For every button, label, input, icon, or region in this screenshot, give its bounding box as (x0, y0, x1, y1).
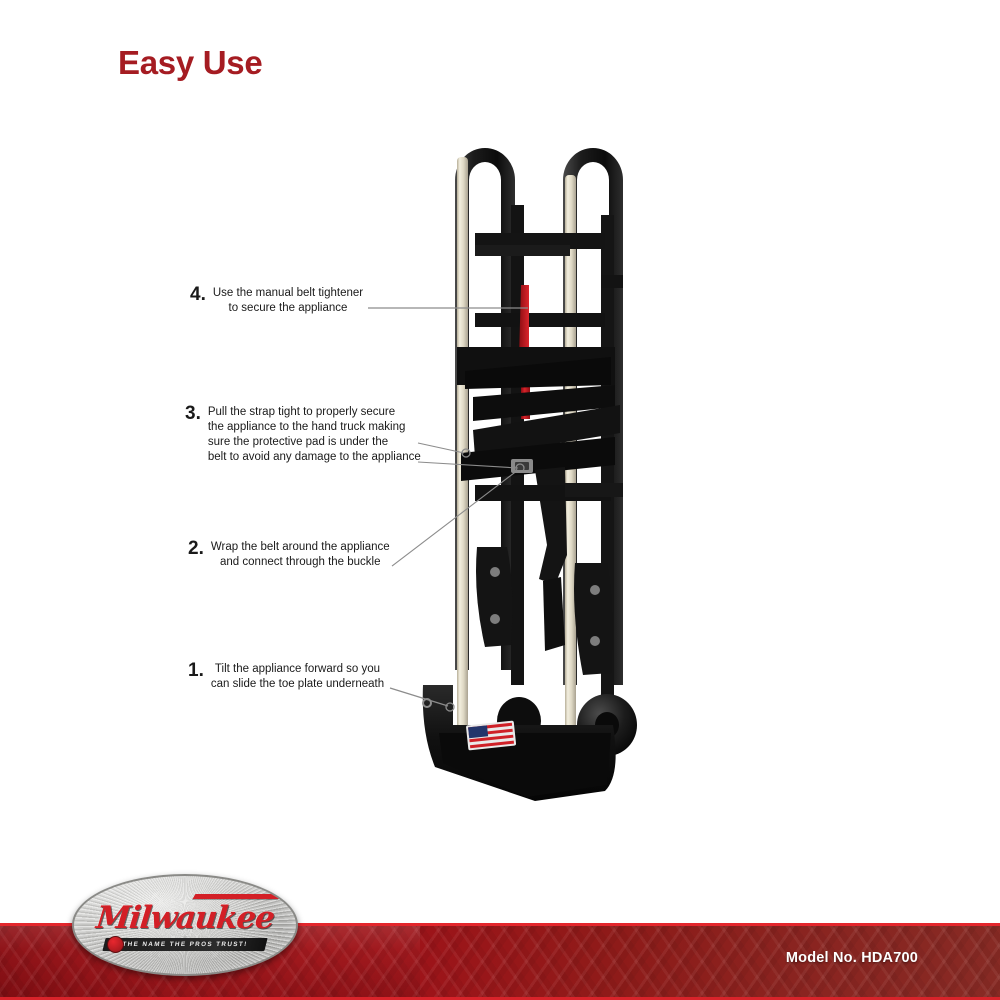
logo-wordmark: Milwaukee (72, 900, 298, 936)
skid-bolt-right-bottom (590, 636, 600, 646)
stair-climber-right (574, 563, 612, 675)
hand-truck-svg (415, 85, 665, 815)
belt-strap-hanging (535, 467, 567, 585)
logo-swoosh (193, 894, 282, 899)
crossbar-1-shadow (475, 245, 570, 256)
callout-step-3: 3. Pull the strap tight to properly secu… (185, 405, 421, 465)
callout-step-4: 4. Use the manual belt tightener to secu… (190, 286, 363, 316)
toe-plate-face (439, 733, 611, 797)
skid-bolt-right-top (590, 585, 600, 595)
belt-buckle-inner (515, 462, 529, 470)
crossbar-2-right-stub (601, 275, 623, 288)
page-title: Easy Use (118, 44, 262, 82)
belt-strap-tail (543, 577, 565, 651)
milwaukee-logo-badge: Milwaukee THE NAME THE PROS TRUST! (72, 874, 298, 976)
logo-tagline-text: THE NAME THE PROS TRUST! (103, 938, 267, 951)
callout-step-1: 1. Tilt the appliance forward so you can… (188, 662, 384, 692)
stay-bar-right (565, 175, 576, 775)
skid-bolt-left-top (490, 567, 500, 577)
shelf-right (565, 483, 623, 497)
model-number-label: Model No. HDA700 (786, 950, 918, 966)
logo-m-roundel (107, 936, 124, 953)
callout-step-2: 2. Wrap the belt around the appliance an… (188, 540, 390, 570)
stair-climber-left (476, 547, 512, 647)
skid-bolt-left-bottom (490, 614, 500, 624)
callout-step-2-number: 2. (188, 540, 204, 556)
callout-step-4-text: Use the manual belt tightener to secure … (213, 286, 363, 316)
appliance-hand-truck-illustration (415, 85, 665, 815)
logo-tagline-banner: THE NAME THE PROS TRUST! (102, 938, 267, 951)
callout-step-1-number: 1. (188, 662, 204, 678)
callout-step-4-number: 4. (190, 286, 206, 302)
callout-step-3-number: 3. (185, 405, 201, 421)
document-page: Easy Use (0, 0, 1000, 1000)
crossbar-2 (475, 313, 605, 327)
callout-step-1-text: Tilt the appliance forward so you can sl… (211, 662, 384, 692)
callout-step-3-text: Pull the strap tight to properly secure … (208, 405, 421, 465)
usa-flag-sticker (466, 721, 516, 751)
callout-step-2-text: Wrap the belt around the appliance and c… (211, 540, 390, 570)
